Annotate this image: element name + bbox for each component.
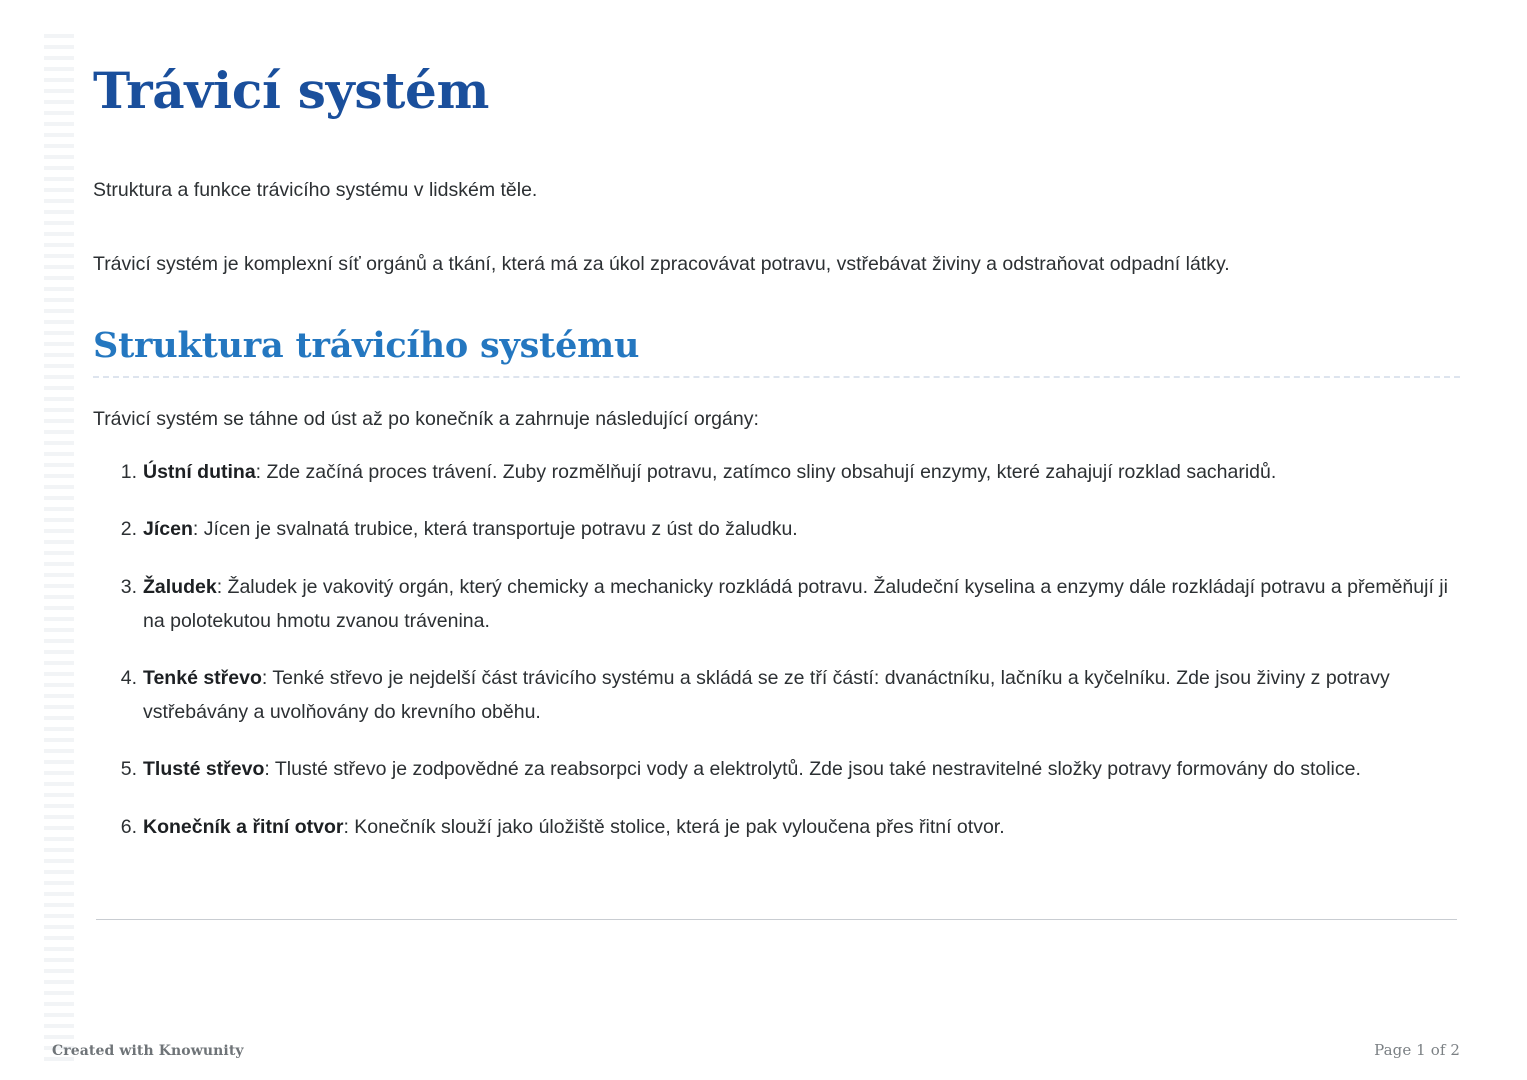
footer-page-number: Page 1 of 2 <box>1374 1041 1460 1059</box>
notebook-paper-edge-decoration <box>44 34 74 1064</box>
section-heading-structure: Struktura trávicího systému <box>93 279 1460 377</box>
list-item: Ústní dutina: Zde začíná proces trávení.… <box>93 456 1460 490</box>
document-page: Trávicí systém Struktura a funkce trávic… <box>0 0 1527 1080</box>
list-item: Konečník a řitní otvor: Konečník slouží … <box>93 811 1460 845</box>
document-content: Trávicí systém Struktura a funkce trávic… <box>93 0 1460 1080</box>
list-intro-paragraph: Trávicí systém se táhne od úst až po kon… <box>93 378 1460 434</box>
page-title: Trávicí systém <box>93 0 1460 119</box>
list-item-description: Tlusté střevo je zodpovědné za reabsorpc… <box>275 758 1361 780</box>
list-item-separator: : <box>256 461 267 483</box>
list-item: Žaludek: Žaludek je vakovitý orgán, kter… <box>93 571 1460 638</box>
list-item-term: Ústní dutina <box>143 461 256 483</box>
list-item: Jícen: Jícen je svalnatá trubice, která … <box>93 513 1460 547</box>
list-item-separator: : <box>262 667 272 689</box>
list-item: Tlusté střevo: Tlusté střevo je zodpověd… <box>93 753 1460 787</box>
list-item: Tenké střevo: Tenké střevo je nejdelší č… <box>93 662 1460 729</box>
list-item-description: Konečník slouží jako úložiště stolice, k… <box>354 816 1004 838</box>
list-item-description: Zde začíná proces trávení. Zuby rozmělňu… <box>267 461 1277 483</box>
list-item-term: Tenké střevo <box>143 667 262 689</box>
page-footer: Created with Knowunity Page 1 of 2 <box>52 1041 1460 1059</box>
list-item-separator: : <box>193 518 204 540</box>
list-item-description: Tenké střevo je nejdelší část trávicího … <box>143 667 1390 723</box>
list-item-term: Tlusté střevo <box>143 758 264 780</box>
list-item-separator: : <box>217 576 228 598</box>
lead-paragraph: Struktura a funkce trávicího systému v l… <box>93 119 1460 205</box>
list-item-term: Jícen <box>143 518 193 540</box>
list-item-description: Jícen je svalnatá trubice, která transpo… <box>204 518 798 540</box>
footer-divider-rule <box>96 919 1457 920</box>
footer-brand-label: Created with Knowunity <box>52 1043 244 1059</box>
list-item-separator: : <box>343 816 354 838</box>
list-item-description: Žaludek je vakovitý orgán, který chemick… <box>143 576 1448 632</box>
list-item-separator: : <box>264 758 274 780</box>
intro-paragraph: Trávicí systém je komplexní síť orgánů a… <box>93 205 1460 279</box>
organ-list: Ústní dutina: Zde začíná proces trávení.… <box>93 434 1460 844</box>
list-item-term: Konečník a řitní otvor <box>143 816 343 838</box>
list-item-term: Žaludek <box>143 576 217 598</box>
